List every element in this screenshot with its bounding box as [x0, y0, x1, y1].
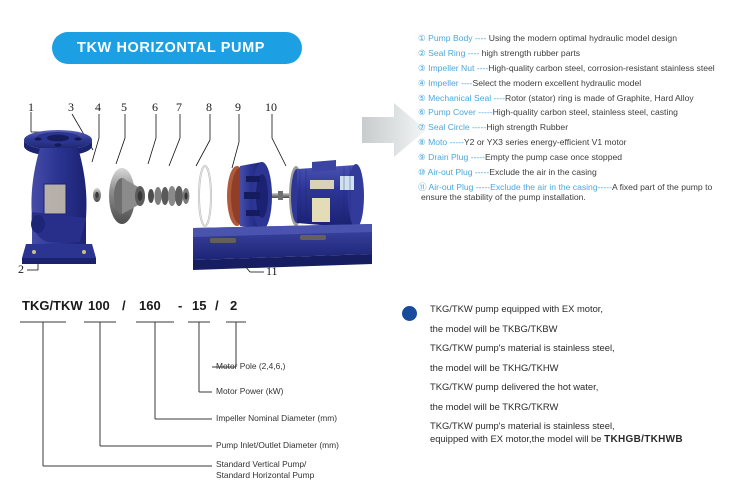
callout-number: 9: [235, 100, 241, 115]
callout-number: 4: [95, 100, 101, 115]
note-line: TKG/TKW pump's material is stainless ste…: [430, 342, 752, 353]
legend-item: ② Seal Ring ---- high strength rubber pa…: [418, 48, 754, 58]
bullet-dot-icon: [402, 306, 417, 321]
legend-part-name: Air-out Plug -----Exclude the air in the…: [429, 182, 598, 192]
legend-part-desc-line2: ensure the stability of the pump install…: [418, 192, 712, 202]
legend-number: ②: [418, 48, 426, 58]
legend-part-name: Seal Circle: [428, 122, 470, 132]
callout-number: 8: [206, 100, 212, 115]
electric-motor: [272, 160, 364, 228]
legend-part-desc: Exclude the air in the casing: [489, 167, 597, 177]
note-line-final: equipped with EX motor,the model will be…: [430, 433, 752, 445]
note-line: TKG/TKW pump delivered the hot water,: [430, 381, 752, 392]
legend-item: ⑤ Mechanical Seal ----Rotor (stator) rin…: [418, 93, 754, 103]
legend-number: ⑪: [418, 182, 427, 192]
pump-cover-bracket: [227, 162, 272, 230]
legend-number: ⑧: [418, 137, 426, 147]
legend-part-name: Mechanical Seal: [428, 93, 491, 103]
model-desc-standard-pump: Standard Vertical Pump/ Standard Horizon…: [216, 459, 314, 482]
legend-part-name: Impeller Nut: [428, 63, 474, 73]
legend-part-name: Pump Cover: [428, 107, 476, 117]
legend-number: ③: [418, 63, 426, 73]
model-variant-notes: TKG/TKW pump equipped with EX motor, the…: [402, 303, 752, 454]
legend-item: ① Pump Body ---- Using the modern optima…: [418, 33, 754, 43]
legend-part-desc: Rotor (stator) ring is made of Graphite,…: [505, 93, 694, 103]
legend-part-name: Moto: [428, 137, 447, 147]
note-final-prefix: equipped with EX motor,the model will be: [430, 433, 604, 444]
legend-item: ⑨ Drain Plug -----Empty the pump case on…: [418, 152, 754, 162]
note-final-model: TKHGB/TKHWB: [604, 434, 683, 445]
legend-item: ⑪ Air-out Plug -----Exclude the air in t…: [418, 182, 754, 203]
parts-legend-list: ① Pump Body ---- Using the modern optima…: [418, 33, 754, 207]
legend-item: ⑥ Pump Cover -----High-quality carbon st…: [418, 107, 754, 117]
legend-number: ①: [418, 33, 426, 43]
callout-number: 5: [121, 100, 127, 115]
legend-number: ⑨: [418, 152, 426, 162]
page-title-banner: TKW HORIZONTAL PUMP: [52, 32, 302, 64]
callout-number: 11: [266, 264, 278, 279]
legend-item: ⑧ Moto -----Y2 or YX3 series energy-effi…: [418, 137, 754, 147]
note-line: the model will be TKHG/TKHW: [430, 362, 752, 373]
legend-part-desc: Y2 or YX3 series energy-efficient V1 mot…: [464, 137, 627, 147]
exploded-pump-diagram: 1 3 4 5 6 7 8 9 10 2 11: [0, 92, 390, 292]
legend-number: ④: [418, 78, 426, 88]
legend-part-name: Impeller: [428, 78, 459, 88]
legend-part-name: Seal Ring: [428, 48, 465, 58]
note-line: the model will be TKBG/TKBW: [430, 323, 752, 334]
legend-number: ⑦: [418, 122, 426, 132]
legend-number: ⑤: [418, 93, 426, 103]
legend-item: ⑦ Seal Circle -----High strength Rubber: [418, 122, 754, 132]
impeller-nut-part: [93, 188, 101, 202]
page-title: TKW HORIZONTAL PUMP: [52, 40, 265, 56]
note-line: TKG/TKW pump equipped with EX motor,: [430, 303, 752, 314]
legend-item: ④ Impeller ----Select the modern excelle…: [418, 78, 754, 88]
legend-number: ⑩: [418, 167, 426, 177]
note-line: TKG/TKW pump's material is stainless ste…: [430, 420, 752, 431]
legend-part-desc: High strength Rubber: [486, 122, 568, 132]
legend-part-desc: A fixed part of the pump to: [612, 182, 712, 192]
note-line: the model will be TKRG/TKRW: [430, 401, 752, 412]
legend-part-desc: Select the modern excellent hydraulic mo…: [473, 78, 642, 88]
seal-circle-oring: [199, 166, 211, 226]
mechanical-seal-stack: [148, 186, 189, 206]
legend-part-name: Pump Body: [428, 33, 472, 43]
legend-part-desc: High-quality carbon steel, corrosion-res…: [488, 63, 714, 73]
model-leader-lines: [0, 296, 396, 496]
callout-number: 6: [152, 100, 158, 115]
pump-casing-body: [22, 148, 96, 264]
callout-number: 1: [28, 100, 34, 115]
impeller-part: [109, 168, 145, 224]
pump-diagram-graphic: [0, 92, 390, 292]
legend-part-desc: high strength rubber parts: [482, 48, 580, 58]
model-desc-motor-power: Motor Power (kW): [216, 386, 283, 397]
legend-part-desc: Using the modern optimal hydraulic model…: [489, 33, 677, 43]
model-desc-motor-pole: Motor Pole (2,4,6,): [216, 361, 285, 372]
callout-number: 7: [176, 100, 182, 115]
legend-part-desc: High-quality carbon steel, stainless ste…: [493, 107, 678, 117]
legend-item: ③ Impeller Nut ----High-quality carbon s…: [418, 63, 754, 73]
callout-number: 2: [18, 262, 24, 277]
model-desc-impeller-dia: Impeller Nominal Diameter (mm): [216, 413, 337, 424]
model-designation-breakdown: TKG/TKW 100 / 160 - 15 / 2: [0, 296, 396, 496]
motor-base-plate: [193, 224, 372, 270]
legend-part-name: Drain Plug: [428, 152, 468, 162]
callout-number: 3: [68, 100, 74, 115]
legend-item: ⑩ Air-out Plug -----Exclude the air in t…: [418, 167, 754, 177]
legend-number: ⑥: [418, 107, 426, 117]
legend-part-name: Air-out Plug: [428, 167, 473, 177]
callout-number: 10: [265, 100, 277, 115]
model-desc-inlet-outlet: Pump Inlet/Outlet Diameter (mm): [216, 440, 339, 451]
legend-part-desc: Empty the pump case once stopped: [485, 152, 622, 162]
